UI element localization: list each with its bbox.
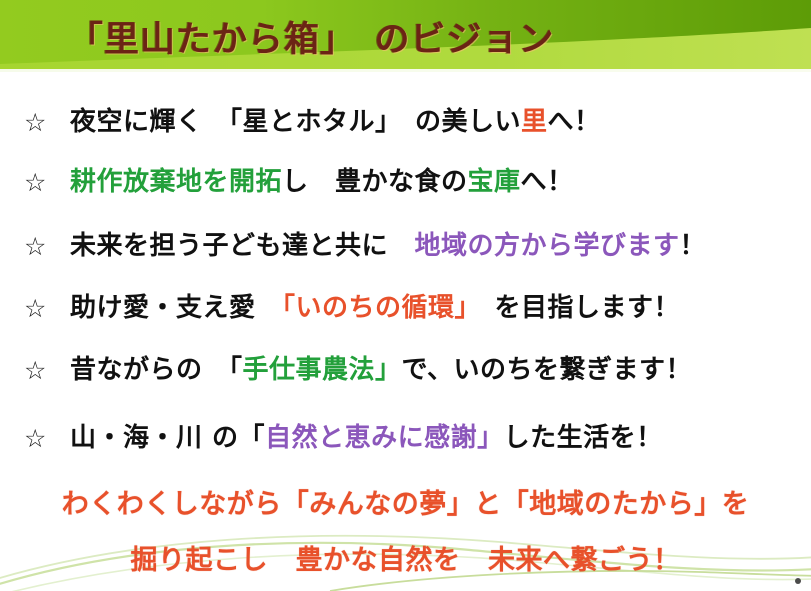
star-icon: ☆ (24, 110, 70, 135)
vision-row: ☆未来を担う子ども達と共に 地域の方から学びます！ (0, 216, 811, 276)
vision-text-segment: 未来を担う子ども達と共に (70, 231, 415, 261)
vision-row-text: 助け愛・支え愛 「いのちの循環」 を目指します！ (70, 294, 680, 323)
vision-text-segment: 宝庫 (468, 167, 521, 197)
vision-row-text: 耕作放棄地を開拓し 豊かな食の宝庫へ！ (70, 168, 574, 197)
vision-text-segment: 昔ながらの 「 (70, 355, 243, 385)
vision-text-segment: 「いのちの循環」 (282, 293, 468, 323)
vision-row-text: 山・海・川 の「自然と恵みに感謝」した生活を！ (70, 424, 663, 453)
header-banner: 「里山たから箱」 のビジョン (0, 0, 811, 72)
vision-text-segment: ！ (680, 231, 707, 261)
vision-text-segment: で、いのちを繋ぎます！ (402, 355, 692, 385)
vision-row: ☆耕作放棄地を開拓し 豊かな食の宝庫へ！ (0, 152, 811, 212)
corner-dot-marker (795, 578, 801, 584)
footer-line-2: 掘り起こし 豊かな自然を 未来へ繋ごう！ (0, 538, 811, 577)
slide-canvas: 「里山たから箱」 のビジョン ☆夜空に輝く 「星とホタル」 の美しい里へ！☆耕作… (0, 0, 811, 591)
vision-row-text: 昔ながらの 「手仕事農法」で、いのちを繋ぎます！ (70, 356, 692, 385)
vision-text-segment: 里 (521, 107, 548, 137)
page-title: 「里山たから箱」 のビジョン (0, 0, 811, 72)
vision-row-text: 未来を担う子ども達と共に 地域の方から学びます！ (70, 232, 706, 261)
star-icon: ☆ (24, 170, 70, 195)
star-icon: ☆ (24, 426, 70, 451)
vision-text-segment: し 豊かな食の (282, 167, 468, 197)
vision-text-segment: 地域の方から学びます (415, 231, 680, 261)
vision-list: ☆夜空に輝く 「星とホタル」 の美しい里へ！☆耕作放棄地を開拓し 豊かな食の宝庫… (0, 72, 811, 472)
vision-text-segment: 山・海・川 の「 (70, 423, 265, 453)
vision-text-segment: へ！ (548, 107, 601, 137)
vision-text-segment: 耕作放棄地を開拓 (70, 167, 282, 197)
vision-text-segment: 助け愛・支え愛 (70, 293, 282, 323)
vision-text-segment: へ！ (521, 167, 574, 197)
footer-message: わくわくしながら「みんなの夢」と「地域のたから」を 掘り起こし 豊かな自然を 未… (0, 472, 811, 591)
vision-row: ☆山・海・川 の「自然と恵みに感謝」した生活を！ (0, 408, 811, 468)
vision-row: ☆昔ながらの 「手仕事農法」で、いのちを繋ぎます！ (0, 340, 811, 400)
footer-line-1: わくわくしながら「みんなの夢」と「地域のたから」を (0, 482, 811, 521)
vision-text-segment: 夜空に輝く 「星とホタル」 の美しい (70, 107, 521, 137)
vision-text-segment: 手仕事農法」 (243, 355, 402, 385)
star-icon: ☆ (24, 296, 70, 321)
vision-text-segment: を目指します！ (468, 293, 680, 323)
star-icon: ☆ (24, 358, 70, 383)
vision-text-segment: 自然と恵みに感謝」 (265, 423, 504, 453)
vision-row: ☆助け愛・支え愛 「いのちの循環」 を目指します！ (0, 278, 811, 338)
vision-row: ☆夜空に輝く 「星とホタル」 の美しい里へ！ (0, 92, 811, 152)
vision-text-segment: した生活を！ (504, 423, 663, 453)
star-icon: ☆ (24, 234, 70, 259)
vision-row-text: 夜空に輝く 「星とホタル」 の美しい里へ！ (70, 108, 601, 137)
